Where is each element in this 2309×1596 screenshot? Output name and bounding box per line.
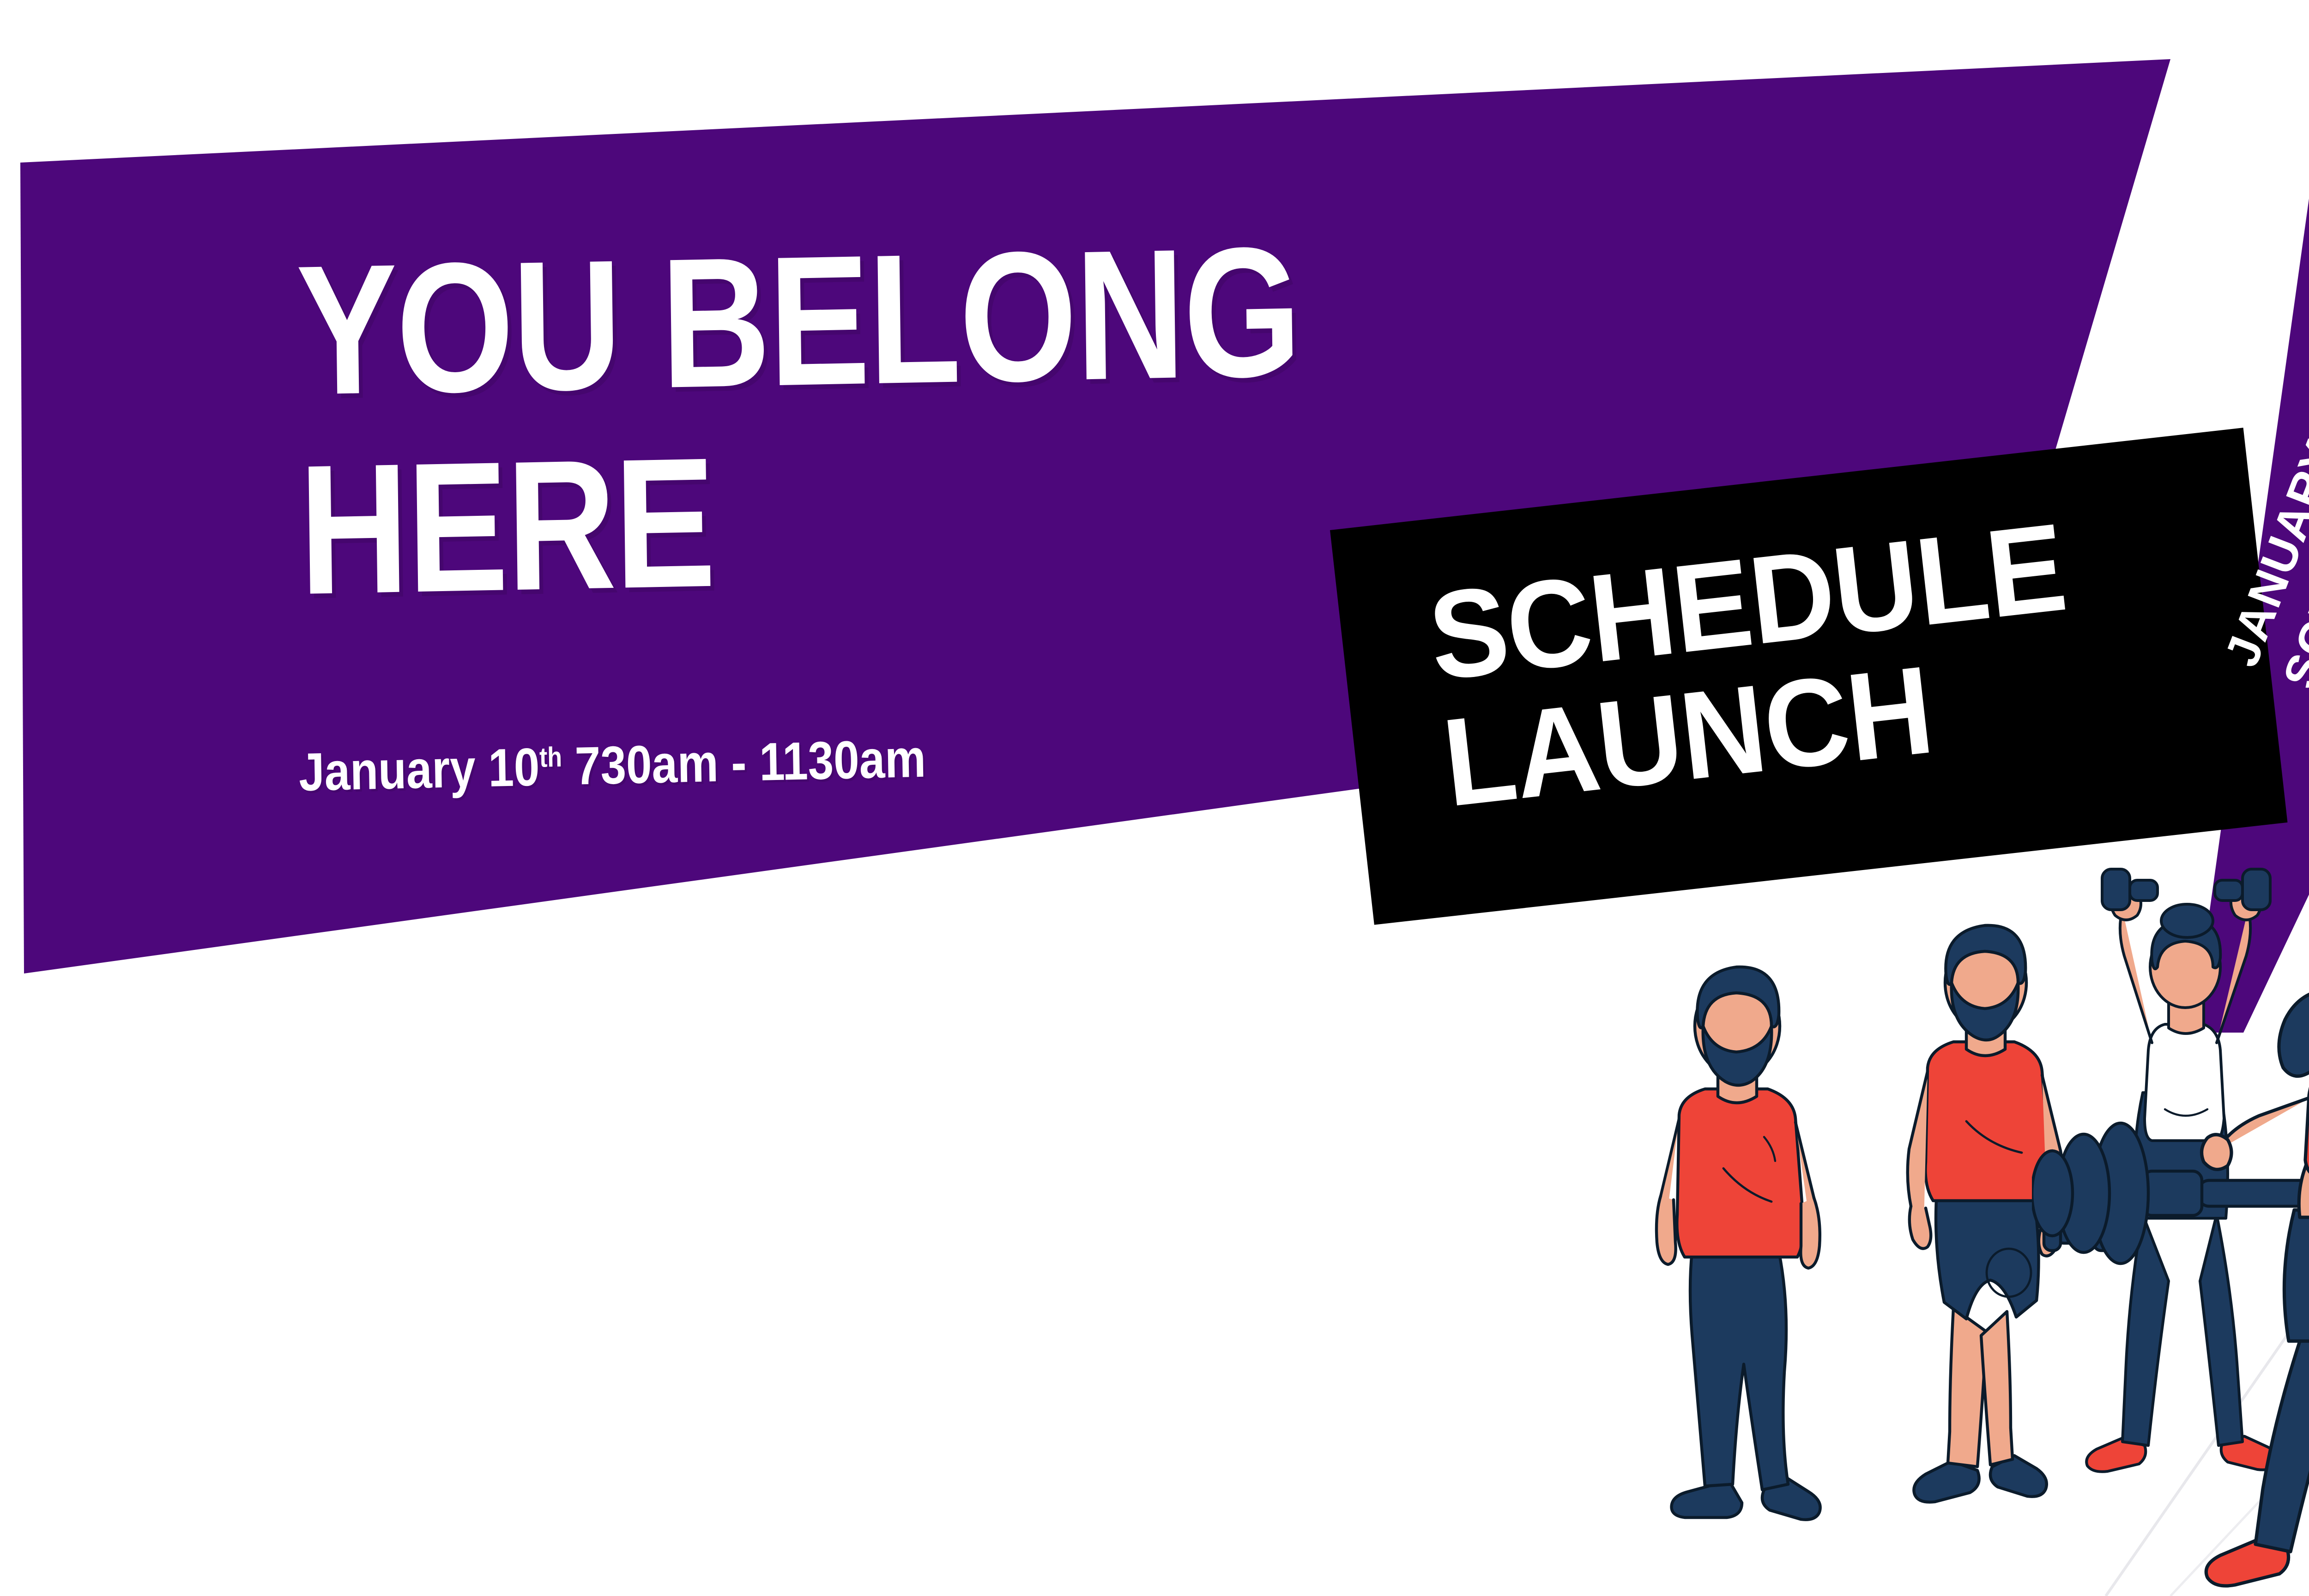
fitness-figures-illustration	[0, 0, 2309, 1596]
figure-woman-barbell-squat	[2170, 924, 2309, 1596]
promo-banner: YOU BELONG HERE January 10th 730am - 113…	[0, 0, 2309, 1596]
figure-standing-bearded-man	[1589, 937, 1875, 1547]
